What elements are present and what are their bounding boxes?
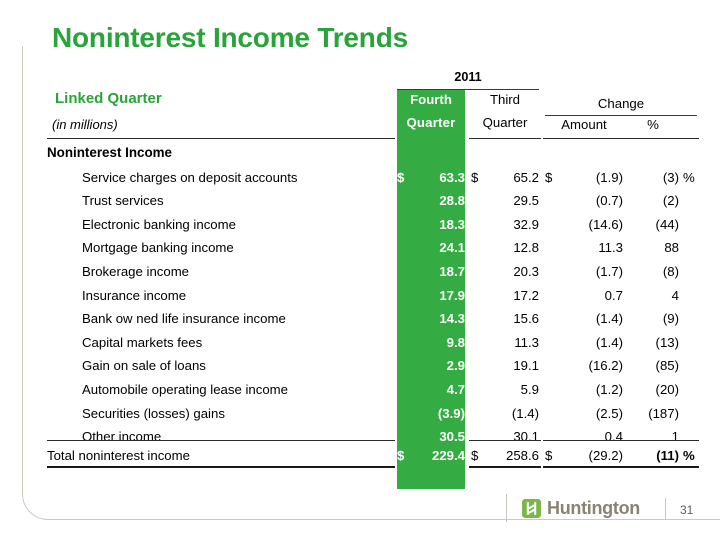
row-amount-value: (2.5)	[545, 402, 623, 421]
row-q4-cell: 9.8	[397, 331, 465, 350]
total-q3-cell: $ 258.6	[471, 444, 539, 463]
row-q3-cell: $65.2	[471, 166, 539, 185]
row-percent-value: (85)	[627, 354, 679, 374]
row-q4-cell: 14.3	[397, 307, 465, 326]
row-amount-cell: (0.7)	[545, 189, 623, 208]
section-title-row: Noninterest Income	[47, 142, 705, 166]
total-amount-cell: $ (29.2)	[545, 444, 623, 463]
footer-divider-left	[506, 494, 507, 522]
row-q4-value: 4.7	[397, 378, 465, 397]
change-group-header: Change	[545, 96, 697, 111]
row-percent-value: (9)	[627, 307, 679, 327]
row-q3-value: 32.9	[471, 213, 539, 232]
row-q3-cell: 5.9	[471, 378, 539, 397]
row-q4-cell: 4.7	[397, 378, 465, 397]
row-label: Insurance income	[47, 284, 430, 304]
table-row: Capital markets fees9.811.3(1.4)(13)	[47, 331, 705, 355]
row-q3-cell: 19.1	[471, 354, 539, 373]
row-label: Bank ow ned life insurance income	[47, 307, 430, 327]
row-amount-value: (0.7)	[545, 189, 623, 208]
page-number: 31	[680, 503, 693, 517]
row-amount-value: (1.4)	[545, 307, 623, 326]
row-q4-cell: 17.9	[397, 284, 465, 303]
row-percent-symbol: %	[683, 166, 699, 186]
row-percent-symbol	[683, 260, 699, 264]
row-q3-cell: 20.3	[471, 260, 539, 279]
row-q4-value: 63.3	[397, 166, 465, 185]
row-amount-cell: (1.2)	[545, 378, 623, 397]
row-q3-value: 15.6	[471, 307, 539, 326]
linked-quarter-label: Linked Quarter	[55, 90, 162, 107]
total-q4-dollar: $	[397, 448, 404, 463]
row-q4-cell: 24.1	[397, 236, 465, 255]
header-rule-third-quarter	[469, 138, 541, 139]
row-percent-value: (20)	[627, 378, 679, 398]
row-q4-cell: 28.8	[397, 189, 465, 208]
row-label: Capital markets fees	[47, 331, 430, 351]
row-label: Automobile operating lease income	[47, 378, 430, 398]
row-percent-symbol	[683, 236, 699, 240]
total-percent-symbol: %	[683, 444, 699, 464]
row-amount-cell: (1.4)	[545, 331, 623, 350]
total-rule-top-change	[543, 440, 699, 441]
row-percent-symbol	[683, 213, 699, 217]
col-header-third-quarter-line2: Quarter	[471, 115, 539, 130]
row-q4-cell: 30.5	[397, 425, 465, 444]
row-amount-cell: (1.7)	[545, 260, 623, 279]
row-amount-value: 0.7	[545, 284, 623, 303]
row-percent-symbol	[683, 331, 699, 335]
row-q4-cell: (3.9)	[397, 402, 465, 421]
row-q3-value: 19.1	[471, 354, 539, 373]
total-rule-top-label	[47, 440, 395, 441]
total-rule-top-third-quarter	[469, 440, 541, 441]
row-amount-cell: (14.6)	[545, 213, 623, 232]
row-percent-value: 88	[627, 236, 679, 256]
row-amount-dollar: $	[545, 170, 552, 185]
row-percent-value: (187)	[627, 402, 679, 422]
table-row: Trust services28.829.5(0.7)(2)	[47, 189, 705, 213]
total-rule-bottom-change	[543, 466, 699, 468]
row-q4-value: 18.7	[397, 260, 465, 279]
table-row: Service charges on deposit accounts$63.3…	[47, 166, 705, 190]
row-q4-value: 30.5	[397, 425, 465, 444]
noninterest-income-table: Linked Quarter (in millions) 2011 Fourth…	[47, 70, 705, 480]
total-q4-cell: $ 229.4	[397, 444, 465, 463]
row-amount-cell: (1.4)	[545, 307, 623, 326]
row-percent-symbol	[683, 378, 699, 382]
total-amount-dollar: $	[545, 448, 552, 463]
row-q3-value: 12.8	[471, 236, 539, 255]
row-amount-value: (14.6)	[545, 213, 623, 232]
row-label: Electronic banking income	[47, 213, 430, 233]
row-percent-value: 4	[627, 284, 679, 304]
row-q3-cell: 12.8	[471, 236, 539, 255]
row-q3-cell: 11.3	[471, 331, 539, 350]
row-q4-cell: 2.9	[397, 354, 465, 373]
row-q4-value: 2.9	[397, 354, 465, 373]
table-row: Bank ow ned life insurance income14.315.…	[47, 307, 705, 331]
total-rule-bottom-third-quarter	[469, 466, 541, 468]
row-q3-value: 29.5	[471, 189, 539, 208]
units-label: (in millions)	[52, 117, 118, 132]
total-percent-value: (11)	[627, 444, 679, 464]
row-q4-value: 9.8	[397, 331, 465, 350]
table-body: Noninterest Income Service charges on de…	[47, 142, 705, 449]
row-label: Mortgage banking income	[47, 236, 430, 256]
row-q3-cell: 15.6	[471, 307, 539, 326]
row-q3-value: 17.2	[471, 284, 539, 303]
header-rule-change	[543, 138, 699, 139]
row-percent-symbol	[683, 354, 699, 358]
row-percent-value: (2)	[627, 189, 679, 209]
row-q3-cell: 17.2	[471, 284, 539, 303]
total-q3-dollar: $	[471, 448, 478, 463]
row-amount-cell: (16.2)	[545, 354, 623, 373]
table-row: Insurance income17.917.20.74	[47, 284, 705, 308]
row-q4-cell: 18.7	[397, 260, 465, 279]
row-percent-symbol	[683, 189, 699, 193]
row-percent-symbol	[683, 402, 699, 406]
table-row: Brokerage income18.720.3(1.7)(8)	[47, 260, 705, 284]
row-q4-cell: 18.3	[397, 213, 465, 232]
table-row: Automobile operating lease income4.75.9(…	[47, 378, 705, 402]
row-label: Securities (losses) gains	[47, 402, 430, 422]
table-row: Gain on sale of loans2.919.1(16.2)(85)	[47, 354, 705, 378]
huntington-mark-icon	[521, 498, 542, 519]
row-amount-cell: $(1.9)	[545, 166, 623, 185]
total-row: Total noninterest income $ 229.4 $ 258.6…	[47, 444, 705, 466]
row-amount-value: (1.4)	[545, 331, 623, 350]
row-q4-value: 24.1	[397, 236, 465, 255]
row-q4-value: (3.9)	[397, 402, 465, 421]
row-q3-value: 20.3	[471, 260, 539, 279]
row-amount-value: 11.3	[545, 236, 623, 255]
row-label: Trust services	[47, 189, 430, 209]
huntington-wordmark: Huntington	[547, 498, 640, 519]
row-label: Other income	[47, 425, 430, 445]
row-percent-value: (44)	[627, 213, 679, 233]
row-q4-value: 14.3	[397, 307, 465, 326]
section-title: Noninterest Income	[47, 142, 395, 160]
row-q3-value: (1.4)	[471, 402, 539, 421]
row-q4-value: 28.8	[397, 189, 465, 208]
row-percent-symbol	[683, 307, 699, 311]
row-q3-cell: 32.9	[471, 213, 539, 232]
row-amount-cell: 11.3	[545, 236, 623, 255]
page-title: Noninterest Income Trends	[52, 22, 408, 54]
row-amount-value: (1.9)	[545, 166, 623, 185]
row-q3-cell: 29.5	[471, 189, 539, 208]
table-row: Mortgage banking income24.112.811.388	[47, 236, 705, 260]
row-q3-value: 65.2	[471, 166, 539, 185]
row-amount-value: (1.2)	[545, 378, 623, 397]
col-header-fourth-quarter-line1: Fourth	[397, 92, 465, 107]
total-label: Total noninterest income	[47, 444, 395, 464]
header-rule-label	[47, 138, 395, 139]
row-percent-symbol	[683, 425, 699, 429]
row-label: Brokerage income	[47, 260, 430, 280]
row-q3-value: 11.3	[471, 331, 539, 350]
total-amount-value: (29.2)	[545, 444, 623, 463]
table-row: Electronic banking income18.332.9(14.6)(…	[47, 213, 705, 237]
col-header-fourth-quarter-line2: Quarter	[397, 115, 465, 130]
huntington-logo: Huntington	[521, 498, 640, 519]
year-group-rule	[397, 89, 539, 91]
row-q4-value: 17.9	[397, 284, 465, 303]
row-percent-value: (3)	[627, 166, 679, 186]
col-header-percent: %	[627, 117, 679, 132]
row-q4-cell: $63.3	[397, 166, 465, 185]
row-q4-value: 18.3	[397, 213, 465, 232]
row-amount-cell: (2.5)	[545, 402, 623, 421]
row-label: Gain on sale of loans	[47, 354, 430, 374]
year-group-header: 2011	[397, 70, 539, 84]
row-q3-cell: (1.4)	[471, 402, 539, 421]
table-row: Securities (losses) gains(3.9)(1.4)(2.5)…	[47, 402, 705, 426]
row-percent-value: (8)	[627, 260, 679, 280]
total-rule-bottom-label	[47, 466, 395, 468]
row-q3-dollar: $	[471, 170, 478, 185]
row-label: Service charges on deposit accounts	[47, 166, 430, 186]
row-percent-symbol	[683, 284, 699, 288]
row-amount-value: (16.2)	[545, 354, 623, 373]
row-percent-value: (13)	[627, 331, 679, 351]
total-q4-value: 229.4	[397, 444, 465, 463]
row-amount-cell: 0.7	[545, 284, 623, 303]
total-q3-value: 258.6	[471, 444, 539, 463]
row-amount-value: (1.7)	[545, 260, 623, 279]
col-header-amount: Amount	[545, 117, 623, 132]
col-header-third-quarter-line1: Third	[471, 92, 539, 107]
row-q3-value: 5.9	[471, 378, 539, 397]
footer-divider-right	[665, 498, 666, 520]
row-percent-value: 1	[627, 425, 679, 445]
row-q4-dollar: $	[397, 170, 404, 185]
